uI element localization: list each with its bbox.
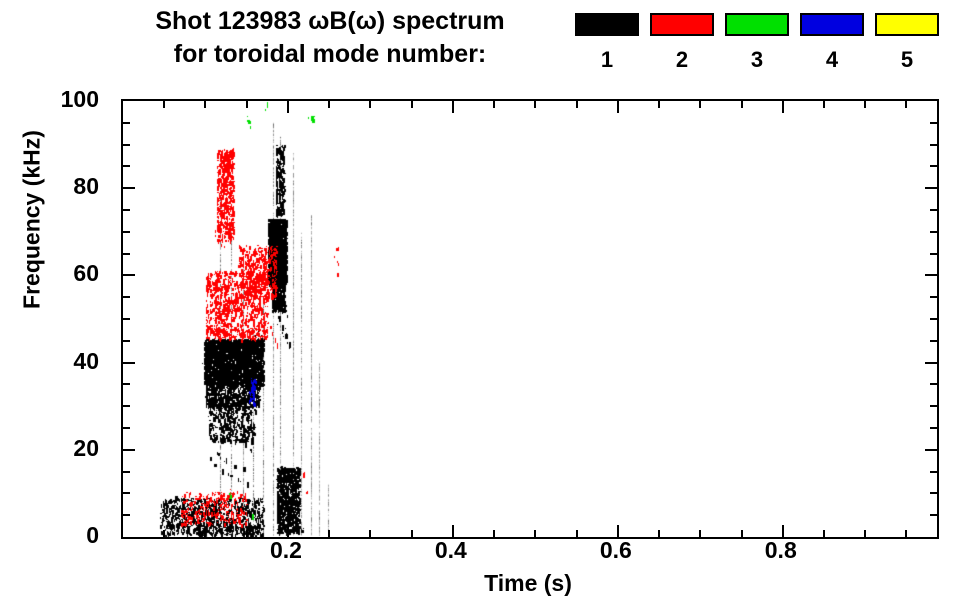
y-tick-label-80: 80: [73, 175, 99, 198]
title-line-1: Shot 123983 ωB(ω) spectrum: [95, 5, 565, 38]
spectrogram-canvas: [123, 101, 937, 537]
y-tick-label-100: 100: [61, 88, 99, 111]
x-axis-tick: [741, 530, 743, 537]
y-axis-tick: [930, 231, 937, 233]
title-line-2-text: for toroidal mode number:: [174, 40, 487, 68]
x-axis-label: Time (s): [121, 570, 935, 597]
legend-label-1: 1: [575, 48, 639, 72]
legend-swatch-5: [875, 13, 939, 36]
x-axis-tick: [905, 530, 907, 537]
legend-item-1[interactable]: 1: [575, 13, 639, 72]
legend-item-5[interactable]: 5: [875, 13, 939, 72]
x-axis-tick: [328, 101, 330, 108]
x-axis-tick: [576, 530, 578, 537]
x-axis-tick: [534, 530, 536, 537]
y-tick-label-60: 60: [73, 262, 99, 285]
x-axis-tick: [864, 530, 866, 537]
x-axis-tick: [534, 101, 536, 108]
y-axis-tick: [123, 340, 130, 342]
x-axis-tick: [246, 530, 248, 537]
legend-item-2[interactable]: 2: [650, 13, 714, 72]
y-axis-tick: [930, 296, 937, 298]
y-axis-tick: [930, 492, 937, 494]
x-axis-tick: [617, 525, 619, 537]
x-axis-tick: [617, 101, 619, 113]
y-axis-tick: [930, 318, 937, 320]
x-axis-tick: [204, 530, 206, 537]
legend-swatch-4: [800, 13, 864, 36]
y-tick-label-40: 40: [73, 350, 99, 373]
x-tick-label-0.4: 0.4: [411, 539, 491, 562]
legend-swatch-1: [575, 13, 639, 36]
x-axis-tick: [905, 101, 907, 108]
y-axis-tick: [925, 274, 937, 276]
y-axis-tick: [925, 187, 937, 189]
x-axis-tick: [328, 530, 330, 537]
x-axis-tick: [576, 101, 578, 108]
x-axis-tick: [452, 101, 454, 113]
x-axis-tick: [369, 530, 371, 537]
legend-label-2: 2: [650, 48, 714, 72]
y-axis-tick: [930, 514, 937, 516]
y-axis-tick: [123, 427, 130, 429]
x-axis-tick: [493, 530, 495, 537]
y-tick-label-20: 20: [73, 437, 99, 460]
x-axis-tick: [782, 101, 784, 113]
x-axis-tick: [411, 530, 413, 537]
y-axis-tick: [930, 165, 937, 167]
y-axis-tick: [123, 187, 135, 189]
y-axis-tick: [123, 318, 130, 320]
x-axis-tick: [287, 525, 289, 537]
x-axis-tick: [823, 101, 825, 108]
x-axis-tick: [741, 101, 743, 108]
x-axis-tick: [493, 101, 495, 108]
x-axis-tick: [452, 525, 454, 537]
y-axis-tick: [930, 471, 937, 473]
x-axis-tick: [246, 101, 248, 108]
y-axis-tick: [123, 209, 130, 211]
x-tick-label-0.2: 0.2: [246, 539, 326, 562]
y-axis-tick: [123, 274, 135, 276]
legend-item-4[interactable]: 4: [800, 13, 864, 72]
y-axis-tick: [925, 449, 937, 451]
y-axis-tick: [123, 144, 130, 146]
x-axis-tick: [658, 101, 660, 108]
x-axis-tick: [163, 530, 165, 537]
y-axis-tick: [930, 383, 937, 385]
x-tick-labels: 0.20.40.60.8: [0, 539, 963, 569]
plot-canvas-clip: [123, 101, 937, 537]
y-axis-tick: [123, 231, 130, 233]
plot-area[interactable]: [121, 99, 939, 539]
x-axis-tick: [699, 530, 701, 537]
x-axis-tick: [699, 101, 701, 108]
y-axis-tick: [930, 340, 937, 342]
y-axis-tick: [123, 362, 135, 364]
y-axis-tick: [123, 122, 130, 124]
x-axis-tick: [287, 101, 289, 113]
chart-title: Shot 123983 ωB(ω) spectrum for toroidal …: [95, 5, 565, 71]
legend-label-3: 3: [725, 48, 789, 72]
title-line-1-text: Shot 123983 ωB(ω) spectrum: [155, 7, 504, 35]
x-axis-tick: [163, 101, 165, 108]
y-tick-labels: 020406080100: [0, 99, 111, 535]
y-axis-tick: [930, 405, 937, 407]
y-axis-tick: [123, 383, 130, 385]
x-axis-tick: [369, 101, 371, 108]
x-axis-tick: [204, 101, 206, 108]
legend: 12345: [575, 13, 955, 88]
legend-swatch-3: [725, 13, 789, 36]
y-axis-tick: [930, 209, 937, 211]
legend-label-4: 4: [800, 48, 864, 72]
x-tick-label-0.8: 0.8: [741, 539, 821, 562]
x-axis-tick: [782, 525, 784, 537]
x-tick-label-0.6: 0.6: [576, 539, 656, 562]
y-axis-tick: [123, 165, 130, 167]
y-axis-tick: [123, 253, 130, 255]
y-axis-tick: [123, 296, 130, 298]
y-axis-tick: [930, 122, 937, 124]
legend-swatch-2: [650, 13, 714, 36]
y-axis-tick: [930, 427, 937, 429]
title-line-2: for toroidal mode number:: [95, 38, 565, 71]
legend-item-3[interactable]: 3: [725, 13, 789, 72]
x-axis-tick: [823, 530, 825, 537]
y-axis-tick: [925, 362, 937, 364]
x-axis-tick: [658, 530, 660, 537]
y-axis-tick: [930, 144, 937, 146]
y-axis-tick: [123, 492, 130, 494]
y-axis-tick: [123, 449, 135, 451]
y-axis-tick: [123, 471, 130, 473]
x-axis-tick: [411, 101, 413, 108]
y-axis-tick: [123, 514, 130, 516]
legend-label-5: 5: [875, 48, 939, 72]
y-axis-tick: [123, 405, 130, 407]
y-axis-tick: [930, 253, 937, 255]
figure-root: Shot 123983 ωB(ω) spectrum for toroidal …: [0, 0, 963, 615]
x-axis-tick: [864, 101, 866, 108]
